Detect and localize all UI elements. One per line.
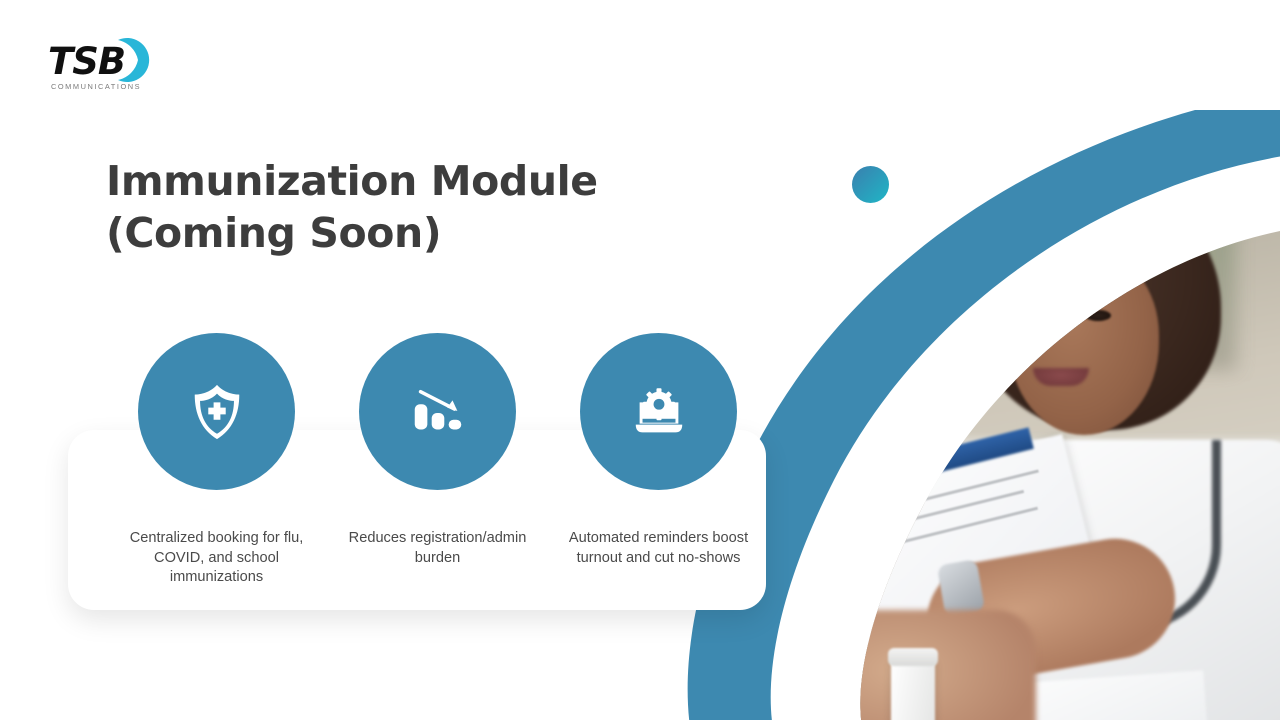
feature-caption: Reduces registration/admin burden (327, 529, 548, 568)
logo-subtitle: COMMUNICATIONS (51, 82, 141, 91)
accent-dot (852, 166, 889, 203)
feature-icon-circle (359, 333, 516, 490)
page-title: Immunization Module (Coming Soon) (106, 156, 726, 259)
feature-list: Centralized booking for flu, COVID, and … (106, 333, 786, 588)
feature-icon-circle (580, 333, 737, 490)
feature-item-reduces-admin: Reduces registration/admin burden (327, 333, 548, 588)
feature-item-centralized-booking: Centralized booking for flu, COVID, and … (106, 333, 327, 588)
feature-icon-circle (138, 333, 295, 490)
laptop-gear-automation-icon (628, 381, 690, 443)
feature-item-automated-reminders: Automated reminders boost turnout and cu… (548, 333, 769, 588)
feature-caption: Automated reminders boost turnout and cu… (548, 529, 769, 568)
declining-bar-chart-arrow-icon (407, 381, 469, 443)
feature-caption: Centralized booking for flu, COVID, and … (106, 529, 327, 588)
logo-wordmark: TSB (48, 40, 125, 83)
tsb-logo: TSB COMMUNICATIONS (48, 34, 188, 96)
shield-medical-cross-icon (186, 381, 248, 443)
slide-canvas: TSB COMMUNICATIONS (0, 0, 1280, 720)
